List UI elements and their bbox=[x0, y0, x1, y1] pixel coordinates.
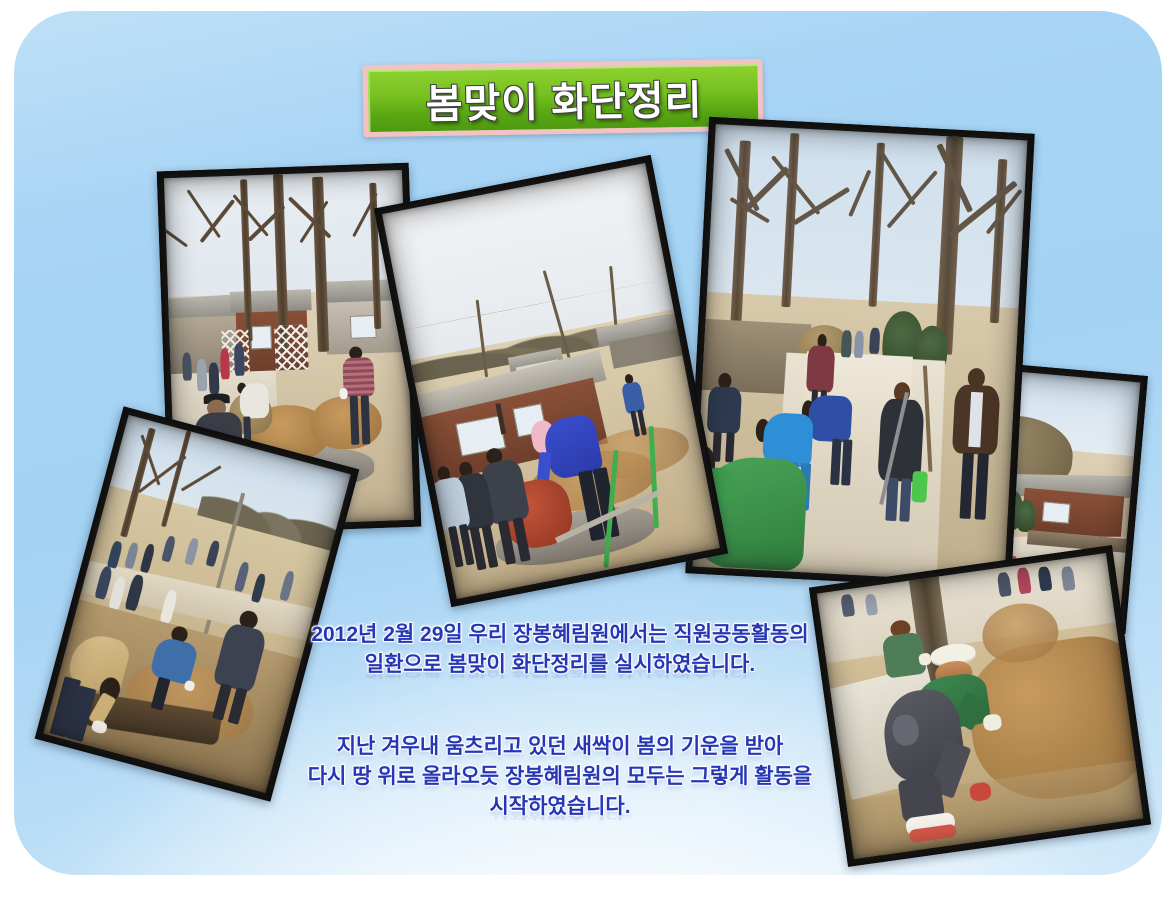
caption-spacer bbox=[210, 710, 910, 732]
title-banner: 봄맞이 화단정리 bbox=[362, 59, 763, 137]
caption-p1-line1: 2012년 2월 29일 우리 장봉혜림원에서는 직원공동활동의 bbox=[210, 620, 910, 650]
caption-p2-line1: 지난 겨우내 움츠리고 있던 새싹이 봄의 기운을 받아 bbox=[210, 732, 910, 762]
poster-canvas: 봄맞이 화단정리 2012년 2월 29일 우리 장봉혜림원에서는 직원공동활동… bbox=[0, 0, 1176, 924]
caption-p2-line3: 시작하였습니다. bbox=[210, 792, 910, 822]
photo-3-scene bbox=[693, 124, 1028, 583]
caption-p2-line2: 다시 땅 위로 올라오듯 장봉혜림원의 모두는 그렇게 활동을 bbox=[210, 762, 910, 792]
title-banner-inner: 봄맞이 화단정리 bbox=[368, 64, 759, 132]
caption-p1-line2: 일환으로 봄맞이 화단정리를 실시하였습니다. bbox=[210, 650, 910, 680]
caption-block: 2012년 2월 29일 우리 장봉혜림원에서는 직원공동활동의 일환으로 봄맞… bbox=[210, 620, 910, 852]
photo-tree-lined-walkway-group bbox=[685, 117, 1034, 590]
page-title: 봄맞이 화단정리 bbox=[425, 68, 703, 130]
